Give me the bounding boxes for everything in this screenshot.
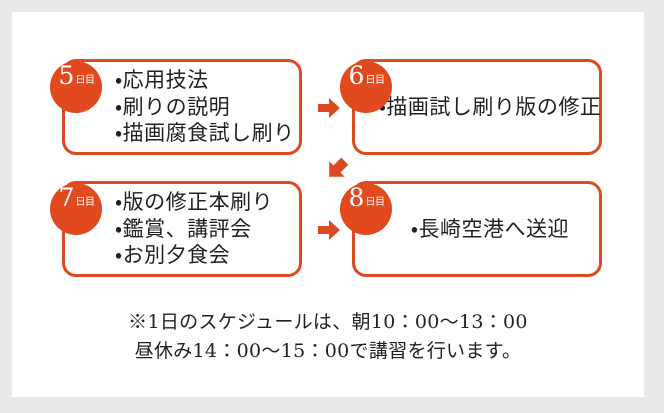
schedule-box-day-6: ・描画試し刷り版の修正 — [352, 59, 602, 155]
day-badge-7-suffix: 日目 — [75, 198, 94, 208]
box-8-content: ・長崎空港へ送迎 — [355, 184, 599, 274]
arrow-right-icon-day5-to-day6 — [318, 98, 340, 122]
day-badge-8: 8日目 — [340, 183, 392, 235]
diagram-canvas: ・応用技法 ・刷りの説明 ・描画腐食試し刷り 5日目 ・描画試し刷り版の修正 6… — [12, 12, 644, 397]
day-badge-6-suffix: 日目 — [365, 76, 384, 86]
day-badge-5: 5日目 — [50, 61, 102, 113]
schedule-note-line-2: 昼休み14：00〜15：00で講習を行います。 — [12, 337, 644, 366]
day-badge-7-number: 7 — [59, 185, 75, 210]
arrow-down-left-icon-day6-to-day7 — [325, 157, 349, 185]
day-badge-7: 7日目 — [50, 183, 102, 235]
box-5-line-1: ・応用技法 — [115, 67, 299, 94]
box-7-content: ・版の修正本刷り ・鑑賞、講評会 ・お別夕食会 — [65, 184, 299, 274]
box-5-content: ・応用技法 ・刷りの説明 ・描画腐食試し刷り — [65, 62, 299, 152]
day-badge-5-number: 5 — [59, 63, 75, 88]
arrow-right-icon-day7-to-day8 — [318, 220, 340, 244]
box-8-line-1: ・長崎空港へ送迎 — [411, 216, 569, 243]
day-badge-6: 6日目 — [340, 61, 392, 113]
box-5-line-2: ・刷りの説明 — [115, 94, 299, 121]
box-6-content: ・描画試し刷り版の修正 — [355, 62, 599, 152]
day-badge-8-suffix: 日目 — [365, 198, 384, 208]
day-badge-8-number: 8 — [349, 185, 365, 210]
schedule-box-day-8: ・長崎空港へ送迎 — [352, 181, 602, 277]
box-7-line-1: ・版の修正本刷り — [115, 189, 299, 216]
day-badge-6-number: 6 — [349, 63, 365, 88]
box-7-line-3: ・お別夕食会 — [115, 242, 299, 269]
schedule-note: ※1日のスケジュールは、朝10：00〜13：00 昼休み14：00〜15：00で… — [12, 308, 644, 365]
box-5-line-3: ・描画腐食試し刷り — [115, 120, 299, 147]
box-7-line-2: ・鑑賞、講評会 — [115, 216, 299, 243]
schedule-note-line-1: ※1日のスケジュールは、朝10：00〜13：00 — [12, 308, 644, 337]
day-badge-5-suffix: 日目 — [75, 76, 94, 86]
box-6-line-1: ・描画試し刷り版の修正 — [379, 94, 602, 121]
